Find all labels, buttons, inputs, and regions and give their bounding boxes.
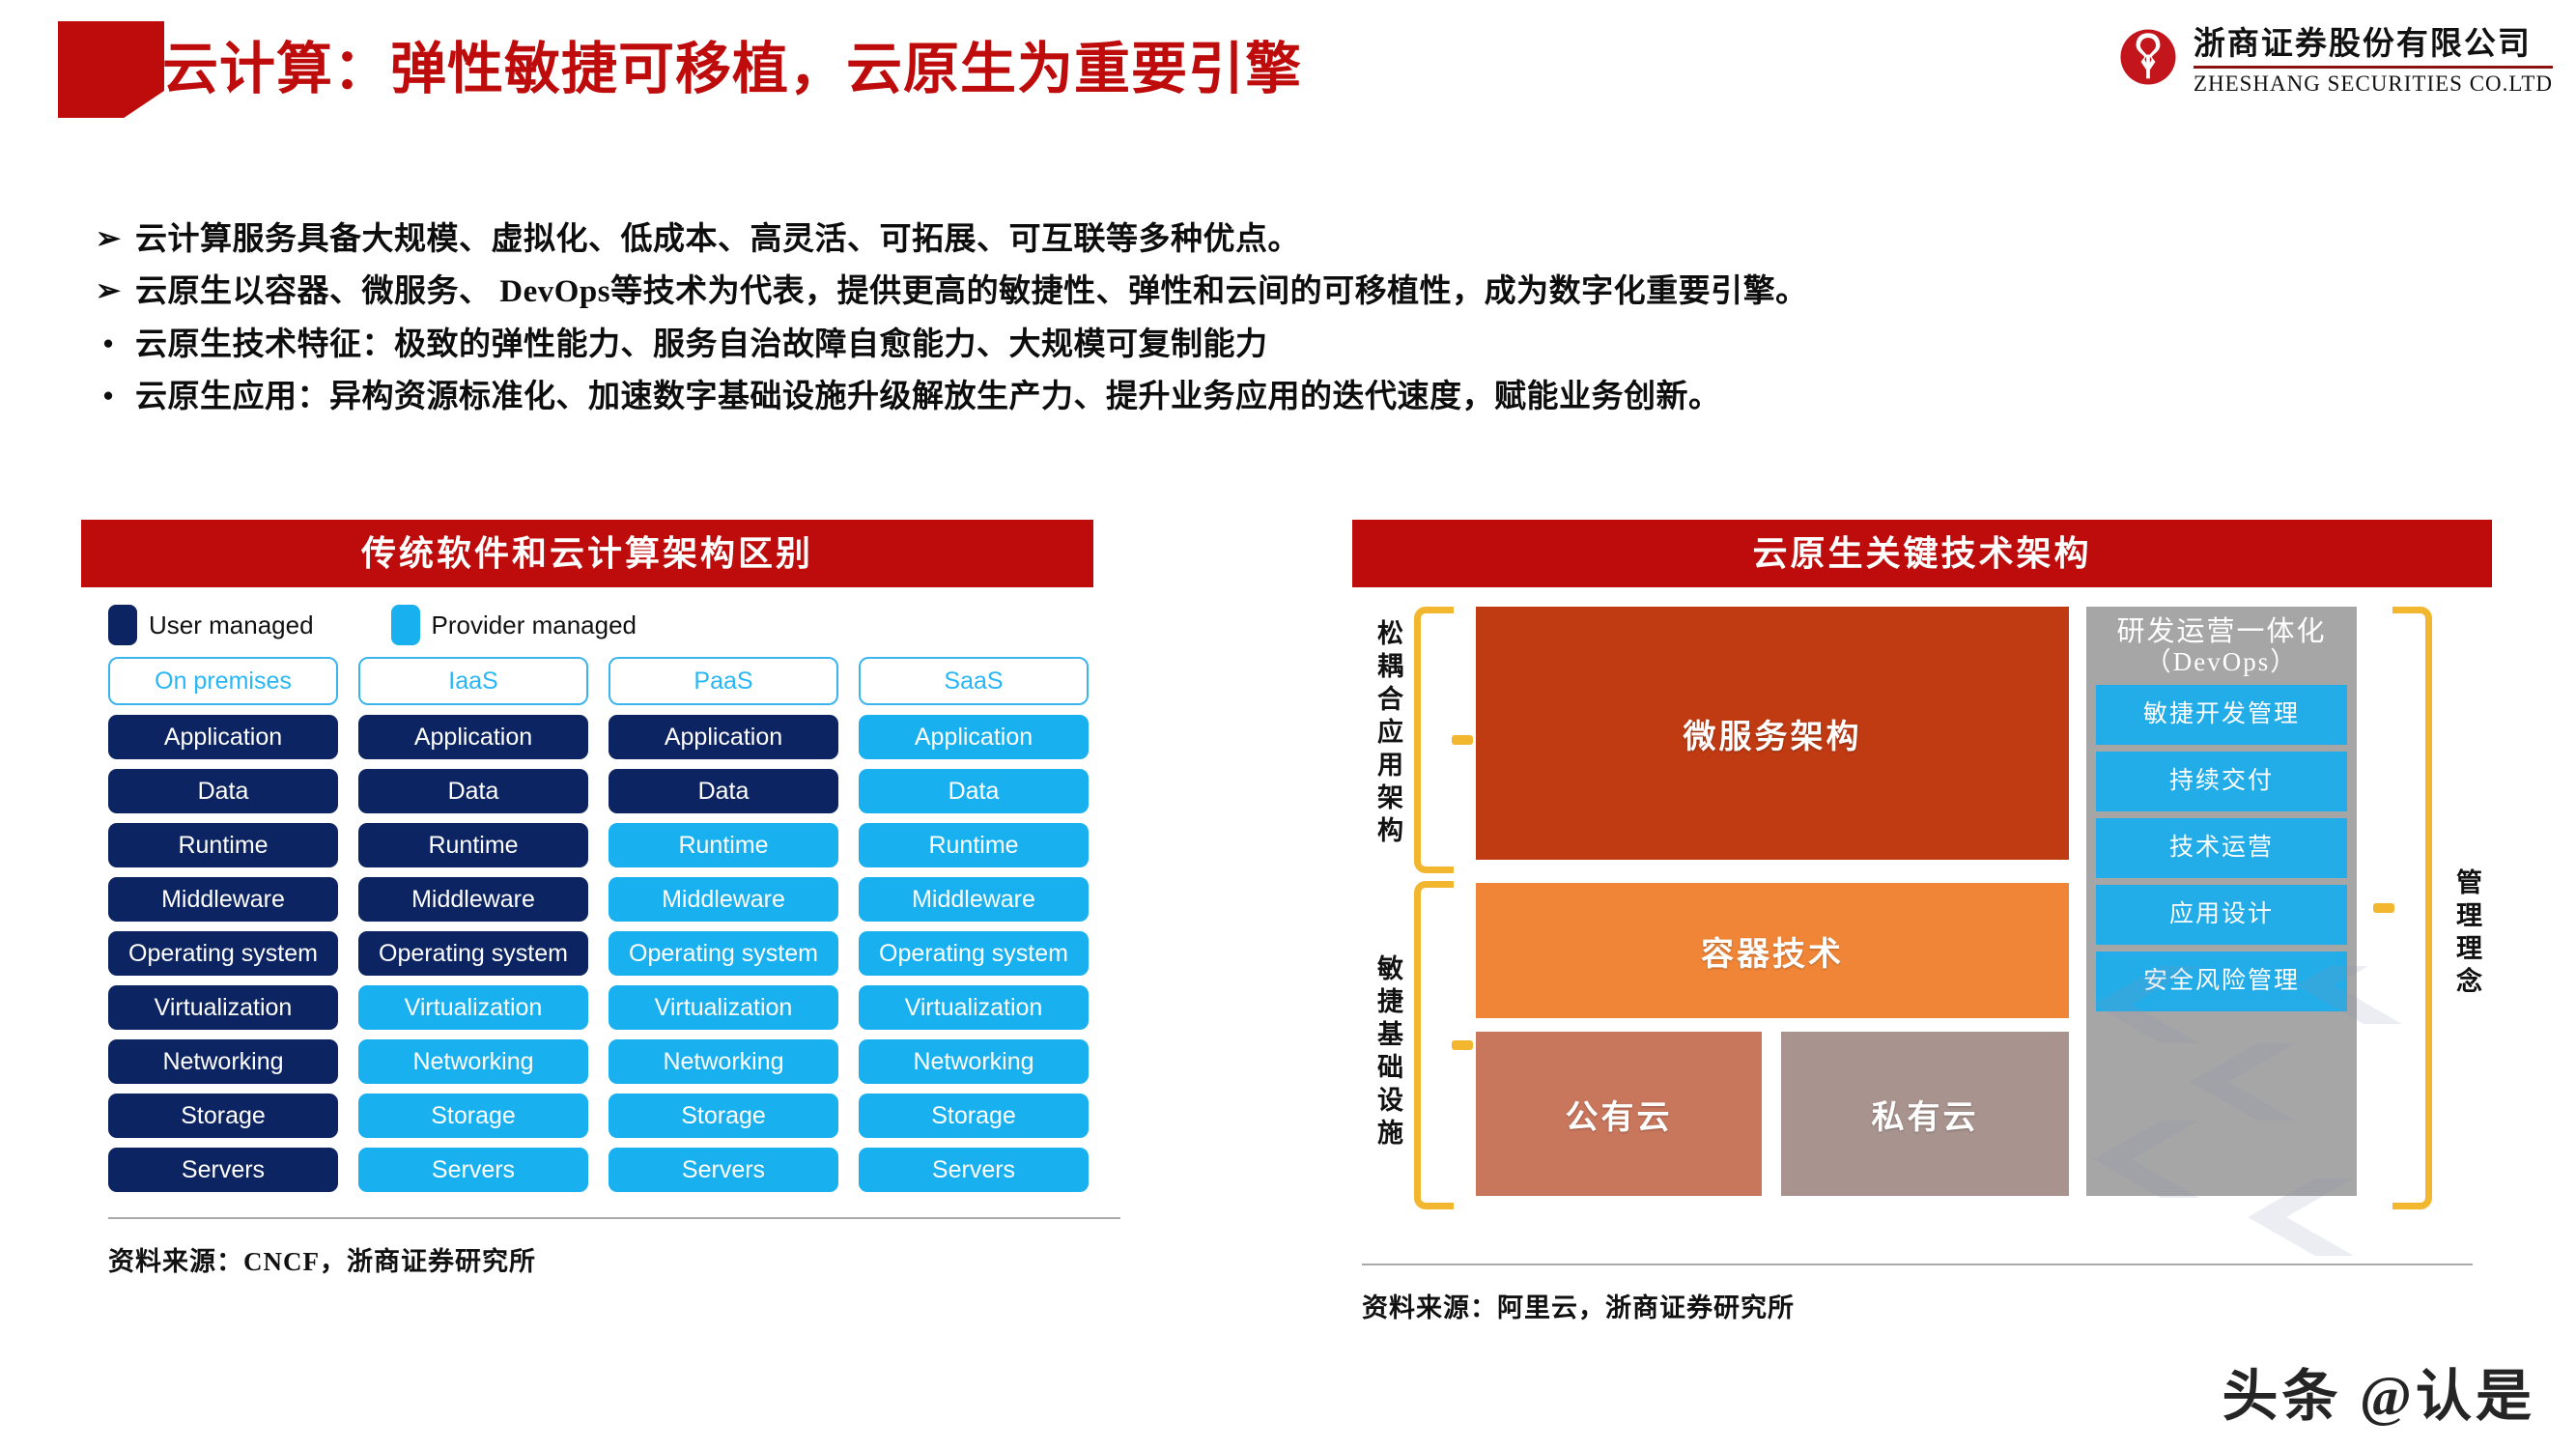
legend-item: Provider managed: [391, 605, 637, 645]
stack-cell: Data: [609, 769, 838, 813]
stack-cell: Storage: [108, 1094, 338, 1138]
devops-item: 应用设计: [2096, 885, 2347, 945]
devops-title-cn: 研发运营一体化: [2116, 616, 2326, 647]
stack-cell: Runtime: [859, 823, 1089, 867]
bullet-text: 云原生以容器、微服务、 DevOps等技术为代表，提供更高的敏捷性、弹性和云间的…: [135, 272, 2576, 311]
page-header: 云计算：弹性敏捷可移植，云原生为重要引擎 浙商证券股份有限公司 ZHESHANG…: [0, 0, 2576, 126]
zheshang-securities-logo-icon: [2118, 27, 2178, 87]
stack-cell: Middleware: [358, 877, 588, 922]
stack-cell: Middleware: [609, 877, 838, 922]
stack-cell: Servers: [358, 1148, 588, 1192]
bullet-marker-icon: ➢: [81, 220, 135, 257]
legend-swatch-icon: [108, 605, 137, 645]
right-panel-title: 云原生关键技术架构: [1352, 520, 2492, 587]
stack-cell: Operating system: [859, 931, 1089, 976]
company-logo: 浙商证券股份有限公司 ZHESHANG SECURITIES CO.LTD: [2118, 17, 2553, 97]
logo-company-name-en: ZHESHANG SECURITIES CO.LTD: [2194, 71, 2553, 97]
devops-panel: 研发运营一体化 （DevOps） 敏捷开发管理持续交付技术运营应用设计安全风险管…: [2086, 607, 2357, 1196]
stack-cell: Application: [108, 715, 338, 759]
stack-cell: Virtualization: [358, 985, 588, 1030]
left-panel-title: 传统软件和云计算架构区别: [81, 520, 1093, 587]
vertical-label-loose-coupled-app-arch: 松耦合应用架构: [1370, 609, 1407, 860]
stack-column-header[interactable]: IaaS: [358, 657, 588, 705]
right-figure-panel: 云原生关键技术架构 松耦合应用架构 敏捷基础设施 管理理念 微服务架构 容器技术…: [1352, 520, 2492, 1324]
page-title: 云计算：弹性敏捷可移植，云原生为重要引擎: [162, 21, 1302, 118]
bullet-item: ➢云计算服务具备大规模、虚拟化、低成本、高灵活、可拓展、可互联等多种优点。: [0, 220, 2576, 259]
bullet-item: •云原生应用：异构资源标准化、加速数字基础设施升级解放生产力、提升业务应用的迭代…: [0, 378, 2576, 416]
bullet-text: 云计算服务具备大规模、虚拟化、低成本、高灵活、可拓展、可互联等多种优点。: [135, 220, 2576, 259]
left-figure-panel: 传统软件和云计算架构区别 User managedProvider manage…: [81, 520, 1221, 1278]
logo-text-block: 浙商证券股份有限公司 ZHESHANG SECURITIES CO.LTD: [2194, 17, 2553, 97]
box-public-cloud: 公有云: [1476, 1032, 1762, 1196]
legend-label: Provider managed: [432, 611, 637, 640]
stack-cell: Servers: [108, 1148, 338, 1192]
devops-item-list: 敏捷开发管理持续交付技术运营应用设计安全风险管理: [2096, 685, 2347, 1011]
bullet-text: 云原生应用：异构资源标准化、加速数字基础设施升级解放生产力、提升业务应用的迭代速…: [135, 378, 2576, 416]
stack-cell: Operating system: [609, 931, 838, 976]
devops-item: 敏捷开发管理: [2096, 685, 2347, 745]
devops-item: 持续交付: [2096, 752, 2347, 811]
box-private-cloud: 私有云: [1781, 1032, 2069, 1196]
stack-column-header[interactable]: SaaS: [859, 657, 1089, 705]
title-accent-flag: [58, 21, 164, 118]
stack-cell: Operating system: [358, 931, 588, 976]
devops-title-en: （DevOps）: [2086, 647, 2357, 676]
logo-company-name-cn: 浙商证券股份有限公司: [2194, 17, 2553, 64]
stack-cell: Data: [859, 769, 1089, 813]
stack-cell: Virtualization: [859, 985, 1089, 1030]
brace-management: [2392, 607, 2432, 1209]
legend: User managedProvider managed: [108, 605, 1221, 645]
brace-loose-coupled: [1414, 607, 1454, 873]
bullet-item: •云原生技术特征：极致的弹性能力、服务自治故障自愈能力、大规模可复制能力: [0, 326, 2576, 364]
left-source-divider: [108, 1217, 1120, 1219]
stack-cell: Application: [358, 715, 588, 759]
devops-item: 技术运营: [2096, 818, 2347, 878]
box-microservice-architecture: 微服务架构: [1476, 607, 2069, 860]
cloud-native-architecture-diagram: 松耦合应用架构 敏捷基础设施 管理理念 微服务架构 容器技术 公有云 私有云 研…: [1352, 601, 2492, 1238]
devops-item: 安全风险管理: [2096, 952, 2347, 1011]
stack-cell: Storage: [358, 1094, 588, 1138]
bullet-list: ➢云计算服务具备大规模、虚拟化、低成本、高灵活、可拓展、可互联等多种优点。➢云原…: [0, 220, 2576, 430]
stack-cell: Data: [358, 769, 588, 813]
stack-column-header[interactable]: On premises: [108, 657, 338, 705]
stack-cell: Virtualization: [609, 985, 838, 1030]
bullet-marker-icon: •: [81, 326, 135, 362]
devops-panel-title: 研发运营一体化 （DevOps）: [2086, 607, 2357, 677]
stack-cell: Storage: [859, 1094, 1089, 1138]
bullet-marker-icon: •: [81, 378, 135, 414]
stack-cell: Middleware: [108, 877, 338, 922]
bullet-marker-icon: ➢: [81, 272, 135, 309]
stack-cell: Operating system: [108, 931, 338, 976]
stack-cell: Data: [108, 769, 338, 813]
right-source-note: 资料来源：阿里云，浙商证券研究所: [1362, 1287, 2492, 1324]
left-source-note: 资料来源：CNCF，浙商证券研究所: [108, 1240, 1221, 1278]
legend-swatch-icon: [391, 605, 420, 645]
logo-divider: [2194, 66, 2553, 69]
box-container-technology: 容器技术: [1476, 883, 2069, 1018]
stack-cell: Networking: [859, 1039, 1089, 1084]
vertical-label-agile-infrastructure: 敏捷基础设施: [1370, 908, 1407, 1198]
vertical-label-management-philosophy: 管理理念: [2449, 823, 2486, 1045]
stack-cell: Networking: [108, 1039, 338, 1084]
bullet-item: ➢云原生以容器、微服务、 DevOps等技术为代表，提供更高的敏捷性、弹性和云间…: [0, 272, 2576, 311]
right-source-divider: [1362, 1264, 2473, 1265]
stack-cell: Runtime: [358, 823, 588, 867]
legend-item: User managed: [108, 605, 314, 645]
stack-cell: Networking: [358, 1039, 588, 1084]
stack-column-header[interactable]: PaaS: [609, 657, 838, 705]
stack-cell: Networking: [609, 1039, 838, 1084]
stack-cell: Servers: [609, 1148, 838, 1192]
stack-cell: Servers: [859, 1148, 1089, 1192]
stack-cell: Runtime: [609, 823, 838, 867]
stack-cell: Middleware: [859, 877, 1089, 922]
cloud-responsibility-matrix: On premisesIaaSPaaSSaaSApplicationApplic…: [108, 657, 1221, 1192]
stack-cell: Runtime: [108, 823, 338, 867]
brace-agile-infra: [1414, 881, 1454, 1209]
stack-cell: Application: [859, 715, 1089, 759]
stack-cell: Virtualization: [108, 985, 338, 1030]
stack-cell: Application: [609, 715, 838, 759]
stack-cell: Storage: [609, 1094, 838, 1138]
watermark-text: 头条 @认是: [2222, 1350, 2535, 1432]
bullet-text: 云原生技术特征：极致的弹性能力、服务自治故障自愈能力、大规模可复制能力: [135, 326, 2576, 364]
legend-label: User managed: [149, 611, 314, 640]
